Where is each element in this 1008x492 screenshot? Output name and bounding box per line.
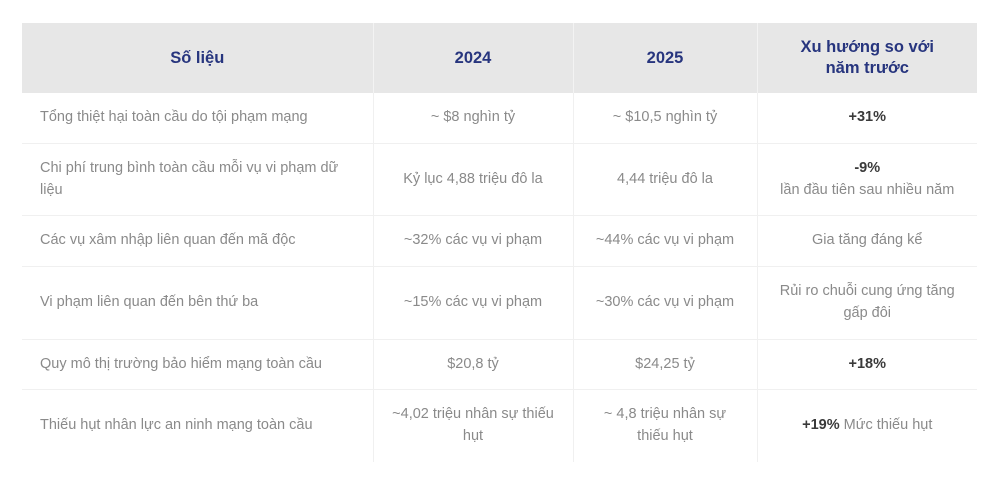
trend-subtext: Gia tăng đáng kể — [812, 232, 922, 248]
trend-emphasis: +18% — [772, 354, 964, 376]
cell-metric: Vi phạm liên quan đến bên thứ ba — [22, 267, 373, 340]
cell-2024: $20,8 tỷ — [373, 339, 573, 390]
header-row: Số liệu 2024 2025 Xu hướng so với năm tr… — [22, 23, 977, 93]
cell-trend: -9% lần đầu tiên sau nhiều năm — [757, 143, 977, 216]
cell-metric: Tổng thiệt hại toàn cầu do tội phạm mạng — [22, 93, 373, 143]
cell-2025: ~30% các vụ vi phạm — [573, 267, 757, 340]
trend-subtext-value: Mức thiếu hụt — [844, 417, 933, 433]
cell-2024: ~15% các vụ vi phạm — [373, 267, 573, 340]
cell-metric: Quy mô thị trường bảo hiểm mạng toàn cầu — [22, 339, 373, 390]
cell-trend: +18% — [757, 339, 977, 390]
trend-emphasis: +31% — [772, 107, 964, 129]
cell-2025: ~ 4,8 triệu nhân sự thiếu hụt — [573, 390, 757, 462]
cell-trend: +19% Mức thiếu hụt — [757, 390, 977, 462]
cell-metric: Chi phí trung bình toàn cầu mỗi vụ vi ph… — [22, 143, 373, 216]
table-row: Các vụ xâm nhập liên quan đến mã độc ~32… — [22, 216, 977, 267]
cell-trend: +31% — [757, 93, 977, 143]
column-header-metric: Số liệu — [22, 23, 373, 93]
column-header-2025: 2025 — [573, 23, 757, 93]
cell-2024: Kỷ lục 4,88 triệu đô la — [373, 143, 573, 216]
cell-trend: Gia tăng đáng kể — [757, 216, 977, 267]
trend-subtext: Rủi ro chuỗi cung ứng tăng gấp đôi — [780, 283, 955, 321]
cybersecurity-stats-table: Số liệu 2024 2025 Xu hướng so với năm tr… — [22, 23, 977, 462]
cell-metric: Các vụ xâm nhập liên quan đến mã độc — [22, 216, 373, 267]
column-header-trend-line2: năm trước — [826, 59, 909, 77]
table-row: Vi phạm liên quan đến bên thứ ba ~15% cá… — [22, 267, 977, 340]
cell-2024: ~ $8 nghìn tỷ — [373, 93, 573, 143]
cell-2025: ~ $10,5 nghìn tỷ — [573, 93, 757, 143]
table-header: Số liệu 2024 2025 Xu hướng so với năm tr… — [22, 23, 977, 93]
table-row: Tổng thiệt hại toàn cầu do tội phạm mạng… — [22, 93, 977, 143]
table-row: Chi phí trung bình toàn cầu mỗi vụ vi ph… — [22, 143, 977, 216]
column-header-trend: Xu hướng so với năm trước — [757, 23, 977, 93]
column-header-trend-line1: Xu hướng so với — [801, 38, 935, 56]
cell-2025: ~44% các vụ vi phạm — [573, 216, 757, 267]
cell-2024: ~32% các vụ vi phạm — [373, 216, 573, 267]
cell-2025: 4,44 triệu đô la — [573, 143, 757, 216]
cell-metric: Thiếu hụt nhân lực an ninh mạng toàn cầu — [22, 390, 373, 462]
cell-2025: $24,25 tỷ — [573, 339, 757, 390]
trend-emphasis: +19% — [802, 417, 840, 433]
table-row: Quy mô thị trường bảo hiểm mạng toàn cầu… — [22, 339, 977, 390]
cell-trend: Rủi ro chuỗi cung ứng tăng gấp đôi — [757, 267, 977, 340]
cell-2024: ~4,02 triệu nhân sự thiếu hụt — [373, 390, 573, 462]
column-header-2024: 2024 — [373, 23, 573, 93]
table-body: Tổng thiệt hại toàn cầu do tội phạm mạng… — [22, 93, 977, 462]
trend-emphasis: -9% — [772, 158, 964, 180]
trend-subtext: lần đầu tiên sau nhiều năm — [780, 182, 954, 198]
stats-table-container: Số liệu 2024 2025 Xu hướng so với năm tr… — [22, 23, 977, 462]
table-row: Thiếu hụt nhân lực an ninh mạng toàn cầu… — [22, 390, 977, 462]
